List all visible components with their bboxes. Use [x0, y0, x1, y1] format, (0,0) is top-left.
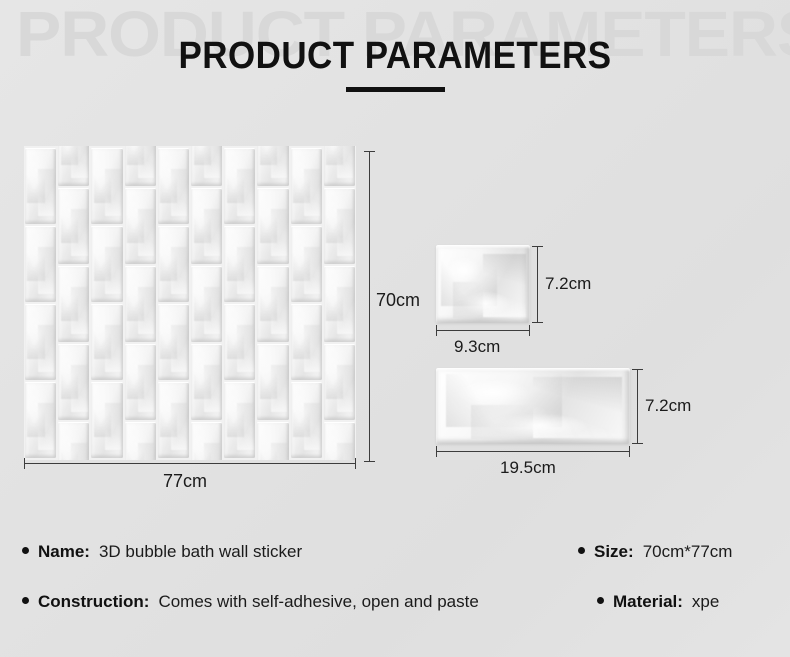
- wall-brick: [324, 146, 355, 186]
- wall-height-cap-bottom: [364, 461, 375, 462]
- wall-brick: [291, 148, 322, 224]
- brick-wide-height-line: [637, 369, 638, 444]
- wall-brick: [191, 188, 222, 264]
- wall-brick: [191, 422, 222, 460]
- wall-brick-column: [223, 146, 256, 460]
- spec-key-name: Name:: [38, 542, 90, 562]
- brick-small-width-cap-right: [529, 325, 530, 336]
- wall-brick: [125, 422, 156, 460]
- brick-small-height-cap-top: [532, 246, 543, 247]
- wall-brick: [257, 266, 288, 342]
- spec-item-name: Name: 3D bubble bath wall sticker: [22, 542, 302, 562]
- wall-brick: [91, 304, 122, 380]
- wall-brick: [158, 148, 189, 224]
- wall-brick: [257, 188, 288, 264]
- wall-brick: [291, 304, 322, 380]
- brick-texture-detail: [471, 405, 595, 440]
- wall-brick-column: [157, 146, 190, 460]
- wall-brick: [191, 266, 222, 342]
- wall-brick: [191, 344, 222, 420]
- wall-brick: [125, 146, 156, 186]
- wall-width-cap-left: [24, 458, 25, 469]
- wall-brick: [58, 266, 89, 342]
- wall-brick: [324, 344, 355, 420]
- brick-wide-width-cap-right: [629, 446, 630, 457]
- wall-brick-column: [256, 146, 289, 460]
- brick-wide-height-cap-top: [632, 369, 643, 370]
- wall-brick: [58, 344, 89, 420]
- wall-brick: [324, 188, 355, 264]
- wall-width-label: 77cm: [163, 471, 207, 492]
- brick-small-height-cap-bottom: [532, 322, 543, 323]
- spec-value-material: xpe: [692, 592, 719, 612]
- spec-key-construction: Construction:: [38, 592, 149, 612]
- brick-texture-highlight: [446, 374, 562, 427]
- wall-brick: [91, 148, 122, 224]
- spec-row-2: Construction: Comes with self-adhesive, …: [0, 589, 790, 615]
- wall-brick: [158, 382, 189, 458]
- wall-brick: [25, 382, 56, 458]
- bullet-icon: [22, 547, 29, 554]
- wall-brick-column: [24, 146, 57, 460]
- brick-texture-shadow: [483, 254, 526, 316]
- brick-small-width-line: [436, 330, 530, 331]
- bullet-icon: [578, 547, 585, 554]
- brick-wide-width-label: 19.5cm: [500, 458, 556, 478]
- wall-brick: [257, 422, 288, 460]
- wall-brick: [25, 148, 56, 224]
- brick-small-width-label: 9.3cm: [454, 337, 500, 357]
- brick-wide-height-label: 7.2cm: [645, 396, 691, 416]
- wall-brick: [91, 382, 122, 458]
- bullet-icon: [22, 597, 29, 604]
- brick-wide-image: [436, 368, 630, 444]
- wall-panel-image: [24, 146, 356, 460]
- wall-brick: [224, 226, 255, 302]
- wall-height-label: 70cm: [376, 290, 420, 311]
- spec-key-size: Size:: [594, 542, 634, 562]
- spec-key-material: Material:: [613, 592, 683, 612]
- wall-brick: [324, 266, 355, 342]
- spec-value-name: 3D bubble bath wall sticker: [99, 542, 302, 562]
- spec-value-construction: Comes with self-adhesive, open and paste: [158, 592, 478, 612]
- wall-brick: [257, 344, 288, 420]
- brick-wide-width-cap-left: [436, 446, 437, 457]
- wall-brick: [224, 304, 255, 380]
- wall-brick: [25, 304, 56, 380]
- wall-brick: [58, 188, 89, 264]
- brick-small-height-label: 7.2cm: [545, 274, 591, 294]
- wall-brick-column: [90, 146, 123, 460]
- wall-brick: [58, 422, 89, 460]
- spec-item-material: Material: xpe: [597, 592, 719, 612]
- brick-texture-highlight: [441, 251, 497, 306]
- wall-brick-column: [124, 146, 157, 460]
- spec-item-construction: Construction: Comes with self-adhesive, …: [22, 592, 479, 612]
- spec-row-1: Name: 3D bubble bath wall sticker Size: …: [0, 539, 790, 565]
- brick-small-height-line: [537, 246, 538, 323]
- wall-width-dimension-line: [24, 463, 356, 464]
- wall-brick: [25, 226, 56, 302]
- wall-brick: [224, 148, 255, 224]
- wall-brick-column: [290, 146, 323, 460]
- brick-wide-height-cap-bottom: [632, 443, 643, 444]
- wall-brick: [125, 188, 156, 264]
- wall-height-dimension-line: [369, 151, 370, 462]
- brick-small-width-cap-left: [436, 325, 437, 336]
- bullet-icon: [597, 597, 604, 604]
- wall-brick: [125, 266, 156, 342]
- wall-brick: [191, 146, 222, 186]
- page-title: PRODUCT PARAMETERS: [32, 36, 759, 76]
- wall-brick: [257, 146, 288, 186]
- wall-brick: [58, 146, 89, 186]
- wall-brick: [224, 382, 255, 458]
- wall-brick: [324, 422, 355, 460]
- brick-texture-detail: [453, 282, 513, 318]
- title-underline: [346, 87, 445, 92]
- wall-brick-column: [57, 146, 90, 460]
- product-parameters-page: PRODUCT PARAMETERS PRODUCT PARAMETERS 70…: [0, 0, 790, 657]
- brick-small-image: [436, 245, 530, 323]
- wall-brick: [158, 226, 189, 302]
- wall-brick: [91, 226, 122, 302]
- wall-brick-column: [190, 146, 223, 460]
- wall-brick: [158, 304, 189, 380]
- wall-brick: [291, 226, 322, 302]
- spec-item-size: Size: 70cm*77cm: [578, 542, 732, 562]
- wall-height-cap-top: [364, 151, 375, 152]
- spec-value-size: 70cm*77cm: [643, 542, 733, 562]
- brick-wide-width-line: [436, 451, 630, 452]
- wall-brick: [125, 344, 156, 420]
- wall-width-cap-right: [355, 458, 356, 469]
- wall-brick-column: [323, 146, 356, 460]
- wall-brick: [291, 382, 322, 458]
- brick-texture-shadow: [533, 377, 622, 438]
